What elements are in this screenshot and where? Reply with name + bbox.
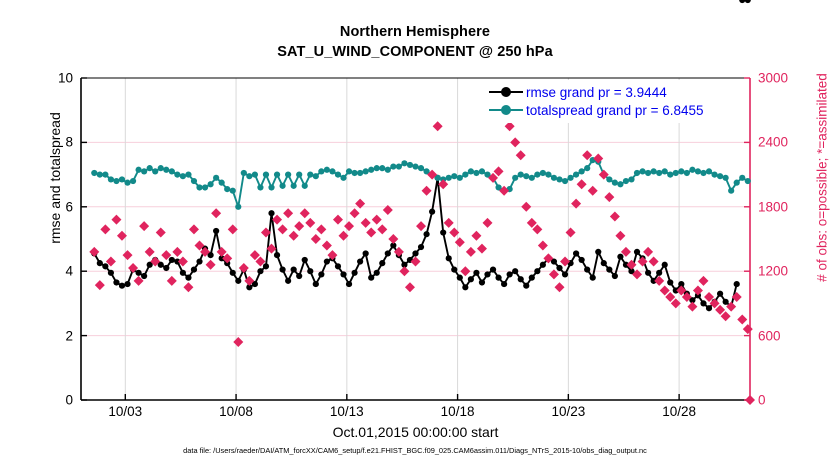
y-axis-left-tick: 0 [33, 393, 73, 408]
y-axis-right-tick: 2400 [758, 135, 804, 150]
x-axis-tick: 10/18 [428, 404, 488, 419]
x-axis-tick: 10/08 [206, 404, 266, 419]
y-axis-left-tick: 6 [33, 199, 73, 214]
legend-marker-totalspread [489, 103, 523, 117]
y-axis-right-tick: 0 [758, 393, 804, 408]
legend-label-rmse: rmse grand pr = 3.9444 [526, 85, 667, 100]
x-axis-tick: 10/23 [538, 404, 598, 419]
y-axis-right-tick: 3000 [758, 71, 804, 86]
y-axis-right-tick: 1800 [758, 199, 804, 214]
x-axis-tick: 10/13 [317, 404, 377, 419]
y-axis-right-tick: 1200 [758, 264, 804, 279]
legend-item-totalspread[interactable]: totalspread grand pr = 6.8455 [489, 101, 704, 119]
y-axis-left-tick: 4 [33, 264, 73, 279]
legend-marker-rmse [489, 85, 523, 99]
chart-legend: rmse grand pr = 3.9444 totalspread grand… [484, 80, 711, 123]
chart-figure: Northern Hemisphere SAT_U_WIND_COMPONENT… [0, 0, 830, 470]
y-axis-left-tick: 2 [33, 328, 73, 343]
legend-label-totalspread: totalspread grand pr = 6.8455 [526, 103, 704, 118]
y-axis-left-tick: 8 [33, 135, 73, 150]
legend-item-rmse[interactable]: rmse grand pr = 3.9444 [489, 83, 704, 101]
y-axis-left-tick: 10 [33, 71, 73, 86]
x-axis-tick: 10/28 [649, 404, 709, 419]
y-axis-right-tick: 600 [758, 328, 804, 343]
plot-area [0, 0, 830, 470]
x-axis-tick: 10/03 [95, 404, 155, 419]
